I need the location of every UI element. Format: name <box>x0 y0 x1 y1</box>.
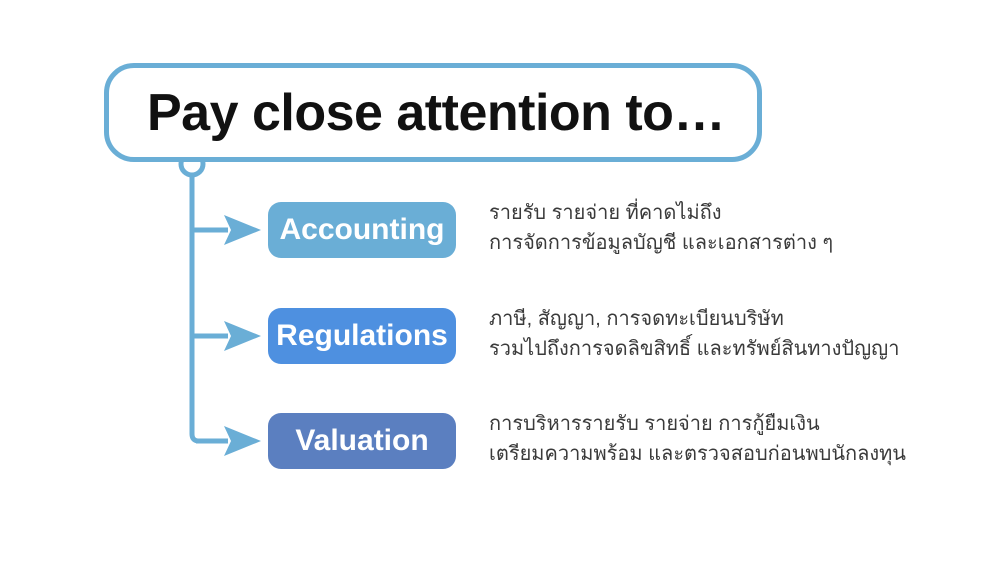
trunk-line <box>192 164 200 441</box>
branch-arrowhead-2 <box>224 321 261 351</box>
category-description: ภาษี, สัญญา, การจดทะเบียนบริษัท รวมไปถึง… <box>489 304 899 364</box>
branch-arrowhead-3 <box>224 426 261 456</box>
list-item: Accounting รายรับ รายจ่าย ที่คาดไม่ถึง ก… <box>268 202 833 258</box>
list-item: Valuation การบริหารรายรับ รายจ่าย การกู้… <box>268 413 906 469</box>
category-description: รายรับ รายจ่าย ที่คาดไม่ถึง การจัดการข้อ… <box>489 198 833 258</box>
category-pill-regulations[interactable]: Regulations <box>268 308 456 364</box>
category-pill-accounting[interactable]: Accounting <box>268 202 456 258</box>
slide-canvas: Pay close attention to… Accounting รายรั… <box>0 0 1000 573</box>
category-pill-valuation[interactable]: Valuation <box>268 413 456 469</box>
branch-arrowhead-1 <box>224 215 261 245</box>
description-line-1: ภาษี, สัญญา, การจดทะเบียนบริษัท <box>489 304 899 334</box>
description-line-1: รายรับ รายจ่าย ที่คาดไม่ถึง <box>489 198 833 228</box>
description-line-1: การบริหารรายรับ รายจ่าย การกู้ยืมเงิน <box>489 409 906 439</box>
category-description: การบริหารรายรับ รายจ่าย การกู้ยืมเงิน เต… <box>489 409 906 469</box>
title-callout-box: Pay close attention to… <box>104 63 762 162</box>
description-line-2: การจัดการข้อมูลบัญชี และเอกสารต่าง ๆ <box>489 228 833 258</box>
description-line-2: รวมไปถึงการจดลิขสิทธิ์ และทรัพย์สินทางปั… <box>489 334 899 364</box>
category-pill-label: Regulations <box>276 321 448 351</box>
description-line-2: เตรียมความพร้อม และตรวจสอบก่อนพบนักลงทุน <box>489 439 906 469</box>
category-pill-label: Valuation <box>295 426 428 456</box>
page-title: Pay close attention to… <box>109 87 725 139</box>
category-pill-label: Accounting <box>280 215 445 245</box>
list-item: Regulations ภาษี, สัญญา, การจดทะเบียนบริ… <box>268 308 899 364</box>
